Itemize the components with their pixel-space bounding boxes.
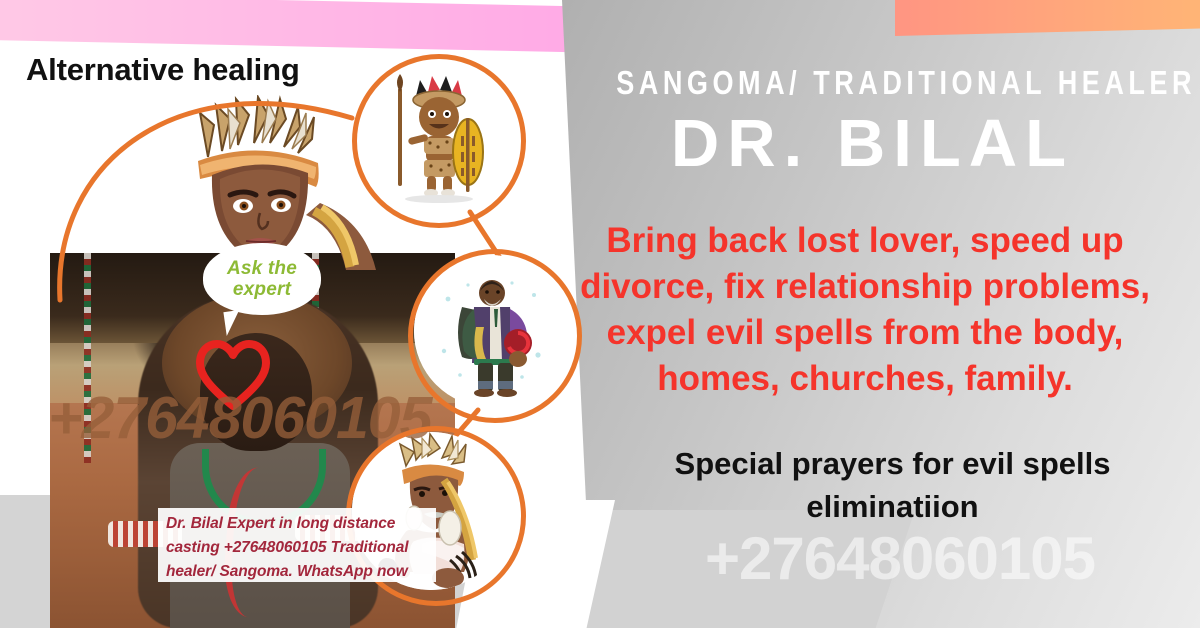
sangoma-kicker: SANGOMA/ TRADITIONAL HEALER [616, 64, 1129, 102]
bubble-tail [223, 310, 242, 336]
traditional-healer-figure-icon [414, 255, 566, 407]
special-prayers-text: Special prayers for evil spells eliminat… [600, 442, 1185, 528]
photo-watermark-phone: +27648060105 [48, 384, 431, 452]
zulu-warrior-cartoon-icon [358, 60, 510, 212]
services-red-text: Bring back lost lover, speed up divorce,… [545, 218, 1185, 402]
circle-traditional-healer [414, 255, 566, 407]
alternative-healing-label: Alternative healing [26, 52, 300, 88]
right-watermark-phone: +27648060105 [600, 524, 1200, 593]
photo-caption-box: Dr. Bilal Expert in long distance castin… [158, 508, 436, 582]
doctor-name-title: DR. BILAL [560, 105, 1185, 182]
ask-the-expert-text: Ask the expert [203, 258, 321, 300]
photo-caption-text: Dr. Bilal Expert in long distance castin… [166, 512, 428, 582]
poster-canvas: Alternative healing Ask the expert +2764… [0, 0, 1200, 628]
circle-zulu-warrior [358, 60, 510, 212]
ask-the-expert-bubble: Ask the expert [203, 243, 321, 315]
